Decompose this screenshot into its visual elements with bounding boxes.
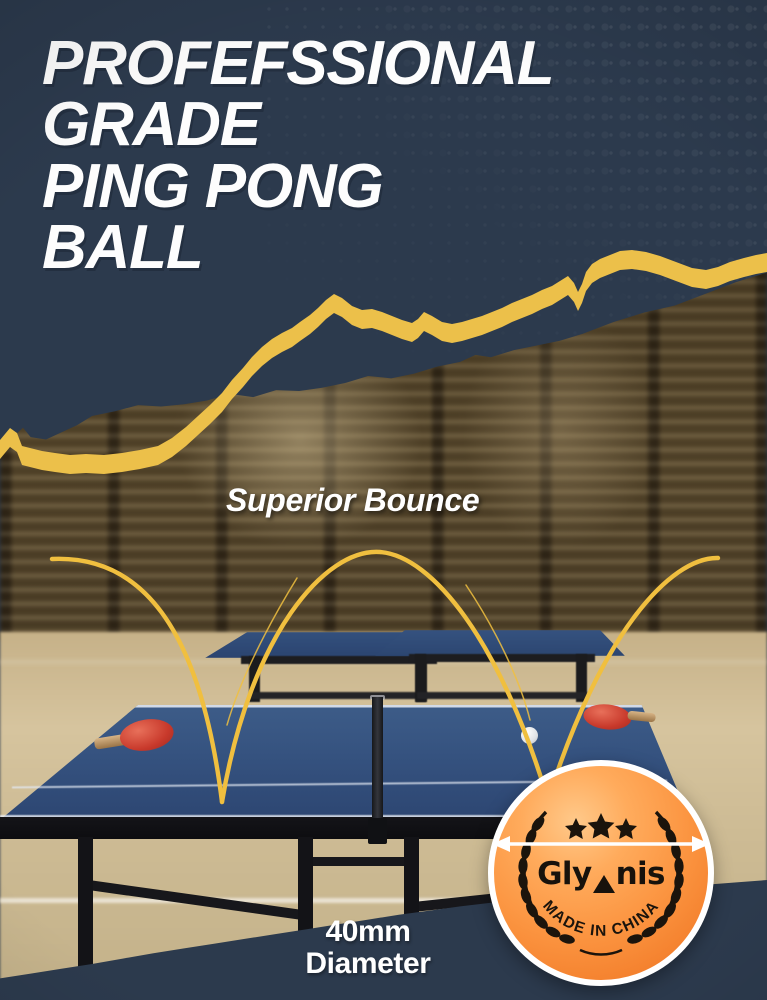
page-title: PROFEFSSIONAL GRADE PING PONG BALL	[42, 33, 742, 279]
diameter-callout: 40mm Diameter	[238, 916, 498, 981]
diameter-value: 40mm	[238, 916, 498, 948]
diameter-label: Diameter	[238, 948, 498, 980]
headline-line-2: GRADE	[42, 94, 742, 155]
table-brace-left	[88, 880, 302, 920]
gold-torn-ribbon	[0, 250, 767, 480]
headline-line-3: PING PONG	[42, 156, 742, 217]
net-post	[368, 818, 387, 844]
subheadline: Superior Bounce	[226, 482, 479, 519]
poster-canvas: PROFEFSSIONAL GRADE PING PONG BALL Super…	[0, 0, 767, 1000]
double-arrow-icon	[488, 760, 714, 986]
headline-line-4: BALL	[42, 217, 742, 278]
headline-line-1: PROFEFSSIONAL	[42, 33, 742, 94]
table-brace-center	[300, 857, 410, 866]
product-ball: MADE IN CHINA Gly nis	[488, 760, 714, 986]
